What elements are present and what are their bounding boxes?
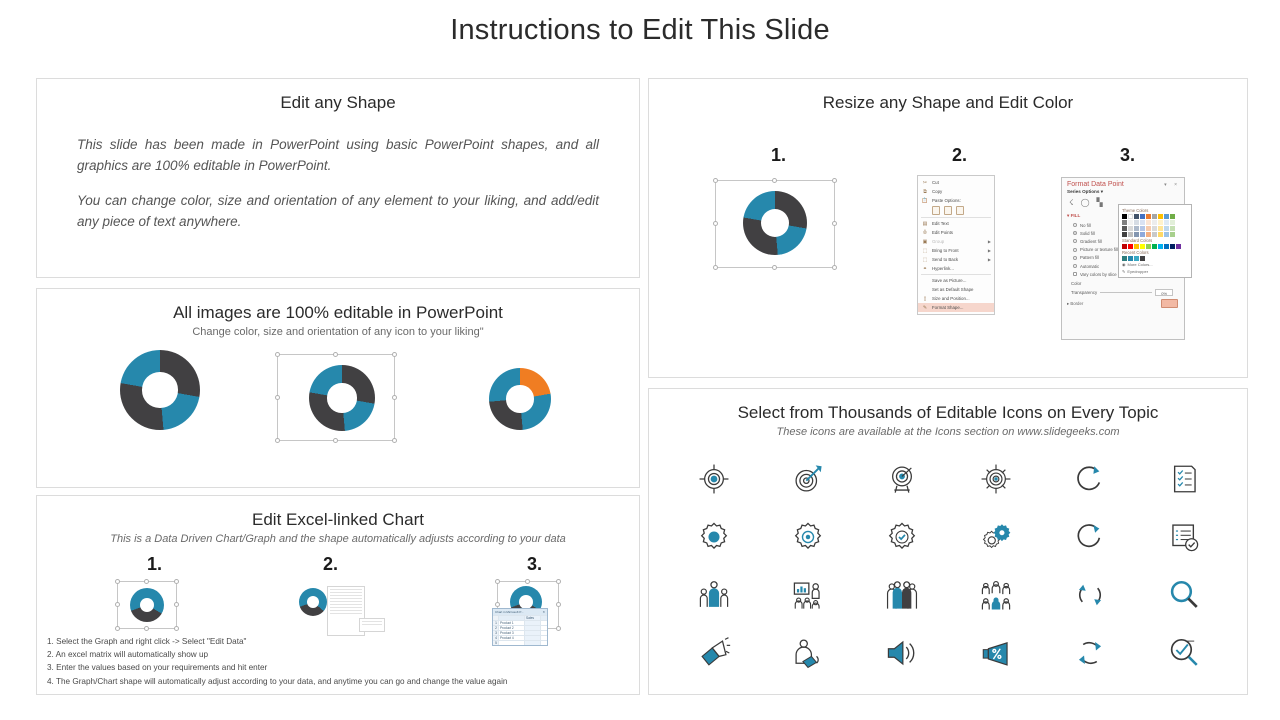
context-menu-item-group: ▣ Group ▶ bbox=[918, 237, 994, 246]
effects-icon[interactable]: ◯ bbox=[1081, 198, 1090, 207]
magnifier-check-icon[interactable] bbox=[1161, 631, 1207, 675]
shape-context-menu[interactable]: ✂ Cut ⧉ Copy 📋 Paste Options: ▤ Edit Tex… bbox=[917, 175, 995, 315]
resize-handle-top-center[interactable] bbox=[333, 352, 338, 357]
crosshair-scope-icon[interactable] bbox=[973, 457, 1019, 501]
context-menu-item-paste-options[interactable]: 📋 Paste Options: bbox=[918, 196, 994, 205]
submenu-arrow-icon: ▶ bbox=[988, 239, 994, 244]
edit-text-icon: ▤ bbox=[921, 221, 929, 227]
panel-resize-and-color: Resize any Shape and Edit Color 1. 2. 3.… bbox=[648, 78, 1248, 378]
context-menu-item-bring-to-front[interactable]: ⬚ Bring to Front ▶ bbox=[918, 246, 994, 255]
resize-step1-donut[interactable] bbox=[743, 191, 807, 255]
resize-step-number-1: 1. bbox=[771, 145, 786, 166]
radio-indicator[interactable] bbox=[1073, 256, 1077, 260]
minimize-icon[interactable]: ▾ bbox=[1164, 182, 1170, 188]
theme-colors-label: Theme Colors bbox=[1122, 207, 1188, 214]
group-icon: ▣ bbox=[921, 239, 929, 245]
color-picker-flyout[interactable]: Theme Colors bbox=[1118, 204, 1192, 278]
resize-handle-bottom-right[interactable] bbox=[832, 265, 837, 270]
recent-colors-label: Recent Colors bbox=[1122, 249, 1188, 256]
excel-step2-donut[interactable] bbox=[299, 588, 327, 616]
team-meeting-icon[interactable] bbox=[973, 573, 1019, 617]
resize-handle-middle-left[interactable] bbox=[495, 602, 500, 607]
eyedropper-icon: ✎ bbox=[1122, 269, 1125, 274]
context-menu-item-size-and-position[interactable]: ▯ Size and Position... bbox=[918, 294, 994, 303]
transparency-label: Transparency bbox=[1071, 290, 1097, 295]
context-menu-item-copy[interactable]: ⧉ Copy bbox=[918, 187, 994, 196]
excel-step-line-3: 3. Enter the values based on your requir… bbox=[47, 661, 627, 674]
resize-handle-top-left[interactable] bbox=[495, 579, 500, 584]
paste-merge-formatting-icon[interactable] bbox=[944, 206, 952, 215]
resize-handle-top-center[interactable] bbox=[525, 579, 530, 584]
radio-indicator[interactable] bbox=[1073, 223, 1077, 227]
series-chart-icon[interactable]: ▚ bbox=[1097, 198, 1103, 207]
fill-bucket-icon[interactable]: ☇ bbox=[1069, 198, 1074, 207]
hyperlink-icon: ⚭ bbox=[921, 266, 929, 272]
swatch-column[interactable] bbox=[1152, 214, 1157, 219]
resize-handle-top-right[interactable] bbox=[174, 579, 179, 584]
panel-edit-excel-chart: Edit Excel-linked Chart This is a Data D… bbox=[36, 495, 640, 695]
panel-all-images-editable: All images are 100% editable in PowerPoi… bbox=[36, 288, 640, 488]
panel-title-images: All images are 100% editable in PowerPoi… bbox=[37, 303, 639, 323]
magnifier-icon[interactable] bbox=[1161, 573, 1207, 617]
resize-handle-bottom-left[interactable] bbox=[115, 626, 120, 631]
resize-handle-middle-left[interactable] bbox=[115, 602, 120, 607]
resize-handle-top-right[interactable] bbox=[832, 178, 837, 183]
swatch-column[interactable] bbox=[1158, 214, 1163, 219]
color-row-label: Color bbox=[1062, 278, 1184, 286]
standard-colors-swatches[interactable] bbox=[1122, 244, 1188, 249]
panel-title-icons: Select from Thousands of Editable Icons … bbox=[649, 403, 1247, 423]
mini-excel-row[interactable]: 2 Product 2 bbox=[493, 625, 547, 630]
resize-handle-bottom-center[interactable] bbox=[333, 438, 338, 443]
close-icon[interactable]: × bbox=[1174, 182, 1180, 188]
context-menu-item-edit-text[interactable]: ▤ Edit Text bbox=[918, 219, 994, 228]
checklist-document-icon[interactable] bbox=[1161, 457, 1207, 501]
size-position-icon: ▯ bbox=[921, 296, 929, 302]
person-megaphone-icon[interactable] bbox=[785, 631, 831, 675]
chevron-down-icon[interactable]: ▾ bbox=[1101, 189, 1103, 194]
edit-shape-paragraph-2: You can change color, size and orientati… bbox=[77, 191, 599, 233]
resize-handle-top-left[interactable] bbox=[713, 178, 718, 183]
radio-indicator[interactable] bbox=[1073, 264, 1077, 268]
swatch-column[interactable] bbox=[1164, 214, 1169, 219]
resize-handle-bottom-center[interactable] bbox=[144, 626, 149, 631]
resize-step-number-2: 2. bbox=[952, 145, 967, 166]
dartboard-arrow-icon[interactable] bbox=[785, 457, 831, 501]
target-stand-icon[interactable] bbox=[879, 457, 925, 501]
slide-canvas: Instructions to Edit This Slide Edit any… bbox=[0, 0, 1280, 720]
paste-keep-formatting-icon[interactable] bbox=[932, 206, 940, 215]
swatch-column[interactable] bbox=[1122, 214, 1127, 219]
more-colors-action[interactable]: ◉ More Colors... bbox=[1122, 261, 1188, 268]
paste-icon: 📋 bbox=[921, 198, 929, 204]
people-group-icon[interactable] bbox=[879, 573, 925, 617]
paste-option-buttons[interactable] bbox=[918, 205, 994, 216]
panel-editable-icons: Select from Thousands of Editable Icons … bbox=[648, 388, 1248, 695]
crosshair-target-icon[interactable] bbox=[691, 457, 737, 501]
standard-colors-label: Standard Colors bbox=[1122, 237, 1188, 244]
excel-steps-list: 1. Select the Graph and right click -> S… bbox=[47, 635, 627, 688]
mini-excel-column-header: Sales bbox=[525, 616, 541, 620]
speaker-icon[interactable] bbox=[879, 631, 925, 675]
theme-colors-swatches[interactable] bbox=[1122, 214, 1188, 219]
mini-excel-row[interactable]: 1 Product 1 bbox=[493, 620, 547, 625]
donut-chart-right[interactable] bbox=[489, 368, 551, 430]
theme-colors-tints-row[interactable] bbox=[1122, 220, 1188, 225]
swatch-column[interactable] bbox=[1146, 214, 1151, 219]
gears-pair-icon[interactable] bbox=[973, 515, 1019, 559]
panel-title-resize: Resize any Shape and Edit Color bbox=[649, 93, 1247, 113]
submenu-arrow-icon: ▶ bbox=[988, 248, 994, 253]
send-to-back-icon: ⬚ bbox=[921, 257, 929, 263]
team-leader-icon[interactable] bbox=[691, 573, 737, 617]
excel-step-number-3: 3. bbox=[527, 554, 542, 575]
resize-handle-middle-right[interactable] bbox=[832, 221, 837, 226]
page-title: Instructions to Edit This Slide bbox=[0, 14, 1280, 47]
expand-arrow-icon[interactable]: ▸ bbox=[1067, 301, 1069, 306]
resize-handle-top-left[interactable] bbox=[275, 352, 280, 357]
format-pane-title: Format Data Point bbox=[1067, 181, 1124, 188]
context-menu-item-hyperlink[interactable]: ⚭ Hyperlink... bbox=[918, 264, 994, 273]
excel-step-line-1: 1. Select the Graph and right click -> S… bbox=[47, 635, 627, 648]
context-menu-item-send-to-back[interactable]: ⬚ Send to Back ▶ bbox=[918, 255, 994, 264]
menu-divider bbox=[921, 217, 991, 218]
resize-handle-bottom-left[interactable] bbox=[275, 438, 280, 443]
resize-handle-middle-right[interactable] bbox=[174, 602, 179, 607]
gear-check-icon[interactable] bbox=[879, 515, 925, 559]
context-menu-item-edit-points[interactable]: ⨶ Edit Points bbox=[918, 228, 994, 237]
context-menu-item-set-as-default-shape[interactable]: Set as Default Shape bbox=[918, 285, 994, 294]
resize-handle-top-left[interactable] bbox=[115, 579, 120, 584]
donut-chart-middle[interactable] bbox=[309, 365, 375, 431]
swatch-column[interactable] bbox=[1134, 214, 1139, 219]
resize-step-number-3: 3. bbox=[1120, 145, 1135, 166]
two-way-arrows-icon[interactable] bbox=[1067, 573, 1113, 617]
presentation-team-icon[interactable] bbox=[785, 573, 831, 617]
resize-handle-bottom-right[interactable] bbox=[392, 438, 397, 443]
expand-arrow-icon[interactable]: ▾ bbox=[1067, 213, 1069, 218]
format-shape-icon: ✎ bbox=[921, 305, 929, 311]
eyedropper-action[interactable]: ✎ Eyedropper bbox=[1122, 268, 1188, 275]
edit-points-icon: ⨶ bbox=[921, 230, 929, 236]
cut-icon: ✂ bbox=[921, 180, 929, 186]
transparency-value[interactable]: 0% bbox=[1155, 289, 1173, 296]
swatch-column[interactable] bbox=[1128, 214, 1133, 219]
resize-handle-top-center[interactable] bbox=[772, 178, 777, 183]
copy-icon: ⧉ bbox=[921, 189, 929, 195]
resize-handle-middle-right[interactable] bbox=[556, 602, 561, 607]
mini-excel-header-row: Sales bbox=[493, 615, 547, 620]
swatch-column[interactable] bbox=[1170, 214, 1175, 219]
panel-title-excel: Edit Excel-linked Chart bbox=[37, 510, 639, 530]
resize-handle-top-center[interactable] bbox=[144, 579, 149, 584]
excel-step1-donut[interactable] bbox=[130, 588, 164, 622]
circular-arrow-icon[interactable] bbox=[1067, 515, 1113, 559]
gear-solid-icon[interactable] bbox=[691, 515, 737, 559]
transparency-row[interactable]: Transparency 0% bbox=[1062, 286, 1184, 296]
context-menu-item-cut[interactable]: ✂ Cut bbox=[918, 178, 994, 187]
menu-divider bbox=[921, 274, 991, 275]
mini-excel-close-icon[interactable]: ✕ bbox=[542, 610, 545, 614]
resize-handle-middle-right[interactable] bbox=[392, 395, 397, 400]
icon-grid bbox=[667, 457, 1231, 675]
gear-dot-icon[interactable] bbox=[785, 515, 831, 559]
excel-step-line-4: 4. The Graph/Chart shape will automatica… bbox=[47, 675, 627, 688]
percent-megaphone-icon[interactable] bbox=[973, 631, 1019, 675]
resize-handle-middle-left[interactable] bbox=[713, 221, 718, 226]
resize-handle-middle-left[interactable] bbox=[275, 395, 280, 400]
radio-indicator[interactable] bbox=[1073, 239, 1077, 243]
submenu-arrow-icon: ▶ bbox=[988, 257, 994, 262]
color-picker-button[interactable] bbox=[1161, 299, 1178, 308]
format-data-point-pane[interactable]: Format Data Point ▾ × Series Options ▾ ☇… bbox=[1061, 177, 1185, 340]
panel-edit-any-shape: Edit any Shape This slide has been made … bbox=[36, 78, 640, 278]
excel-step2-submenu[interactable] bbox=[359, 618, 385, 632]
more-colors-icon: ◉ bbox=[1122, 262, 1126, 267]
checkbox-indicator[interactable] bbox=[1073, 272, 1077, 276]
context-menu-item-format-shape[interactable]: ✎ Format Shape... bbox=[918, 303, 994, 312]
resize-handle-top-right[interactable] bbox=[556, 579, 561, 584]
panel-subtitle-icons: These icons are available at the Icons s… bbox=[649, 426, 1247, 438]
panel-subtitle-images: Change color, size and orientation of an… bbox=[37, 326, 639, 338]
swatch-column[interactable] bbox=[1140, 214, 1145, 219]
radio-indicator-selected[interactable] bbox=[1073, 231, 1077, 235]
radio-indicator[interactable] bbox=[1073, 248, 1077, 252]
excel-step-number-1: 1. bbox=[147, 554, 162, 575]
paste-picture-icon[interactable] bbox=[956, 206, 964, 215]
resize-handle-top-right[interactable] bbox=[392, 352, 397, 357]
resize-handle-bottom-center[interactable] bbox=[772, 265, 777, 270]
megaphone-icon[interactable] bbox=[691, 631, 737, 675]
context-menu-item-save-as-picture[interactable]: Save as Picture... bbox=[918, 276, 994, 285]
checklist-approved-icon[interactable] bbox=[1161, 515, 1207, 559]
resize-handle-bottom-left[interactable] bbox=[713, 265, 718, 270]
panel-title-edit-shape: Edit any Shape bbox=[37, 93, 639, 113]
cycle-arrows-icon[interactable] bbox=[1067, 631, 1113, 675]
resize-handle-bottom-right[interactable] bbox=[174, 626, 179, 631]
format-pane-header: Format Data Point ▾ × bbox=[1062, 178, 1184, 189]
mini-excel-title: Chart in Microsoft P... bbox=[495, 610, 523, 614]
images-donut-row bbox=[37, 344, 639, 464]
excel-step-line-2: 2. An excel matrix will automatically sh… bbox=[47, 648, 627, 661]
refresh-arrow-icon[interactable] bbox=[1067, 457, 1113, 501]
donut-chart-left[interactable] bbox=[120, 350, 200, 430]
edit-shape-paragraph-1: This slide has been made in PowerPoint u… bbox=[77, 135, 599, 177]
excel-step-number-2: 2. bbox=[323, 554, 338, 575]
transparency-slider[interactable] bbox=[1100, 292, 1152, 293]
bring-to-front-icon: ⬚ bbox=[921, 248, 929, 254]
theme-colors-tints-row[interactable] bbox=[1122, 226, 1188, 231]
resize-handle-bottom-right[interactable] bbox=[556, 626, 561, 631]
panel-subtitle-excel: This is a Data Driven Chart/Graph and th… bbox=[37, 533, 639, 545]
